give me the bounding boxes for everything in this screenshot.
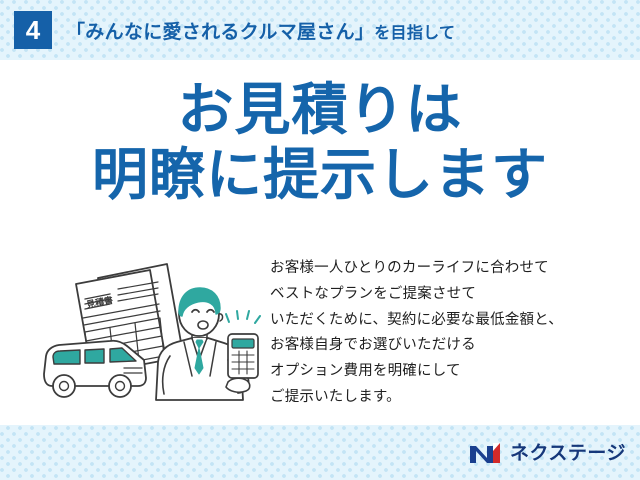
body-copy-line: お客様自身でお選びいただける (270, 333, 620, 359)
sparkle-icon (226, 311, 260, 323)
body-copy-line: オプション費用を明確にして (270, 359, 620, 385)
body-copy-line: いただくために、契約に必要な最低金額と、 (270, 308, 620, 334)
van-shape (44, 341, 146, 397)
body-copy-line: お客様一人ひとりのカーライフに合わせて (270, 256, 620, 282)
headline-line-2: 明瞭に提示します (0, 145, 640, 204)
header-title-tail: を目指して (374, 25, 455, 42)
body-copy-line: ベストなプランをご提案させて (270, 282, 620, 308)
body-copy: お客様一人ひとりのカーライフに合わせて ベストなプランをご提案させて いただくた… (270, 256, 620, 411)
page-title: お見積りは 明瞭に提示します (0, 80, 640, 205)
body-copy-line: ご提示いたします。 (270, 385, 620, 411)
headline-line-1: お見積りは (0, 80, 640, 139)
header-title: 「みんなに愛されるクルマ屋さん」を目指して (66, 17, 455, 44)
illustration-svg: 見積書 (32, 256, 272, 421)
calculator-icon (228, 334, 258, 378)
content-panel: お見積りは 明瞭に提示します お客様一人ひとりのカーライフに合わせて ベストなプ… (0, 60, 640, 425)
brand-name: ネクステージ (510, 444, 626, 463)
brand-footer: ネクステージ (469, 438, 626, 468)
header-title-quoted: 「みんなに愛されるクルマ屋さん」 (66, 22, 374, 43)
salesman-quote-car-illustration: 見積書 (32, 256, 272, 421)
promo-banner: 4 「みんなに愛されるクルマ屋さん」を目指して お見積りは 明瞭に提示します お… (0, 0, 640, 480)
banner-header: 4 「みんなに愛されるクルマ屋さん」を目指して (0, 0, 640, 60)
step-number-badge: 4 (14, 11, 52, 49)
nextage-logo-icon (469, 441, 503, 465)
